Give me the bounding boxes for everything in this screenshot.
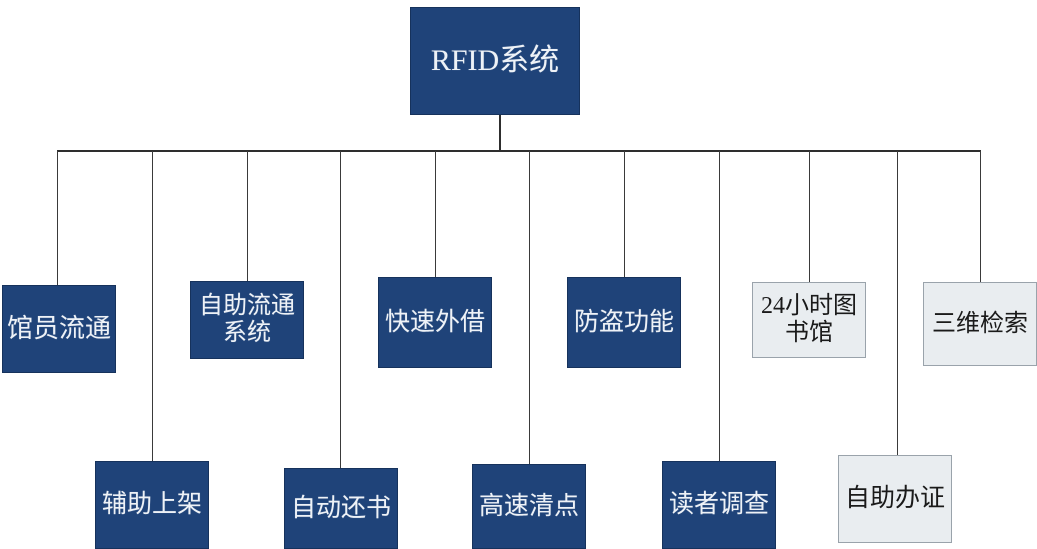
connector-drop-7 (624, 151, 625, 277)
connector-drop-11 (980, 151, 981, 282)
node-level2-1-label: 自助流通 系统 (197, 293, 297, 347)
node-level2-3-label: 防盗功能 (572, 309, 676, 337)
node-root[interactable]: RFID系统 (410, 7, 580, 115)
node-level2-5-label: 三维检索 (930, 311, 1030, 338)
node-level3-2-label: 高速清点 (477, 493, 581, 521)
node-level3-4-label: 自助办证 (843, 485, 947, 513)
connector-drop-1 (57, 151, 58, 285)
node-level3-1[interactable]: 自动还书 (284, 468, 398, 549)
connector-drop-9 (809, 151, 810, 282)
node-level3-1-label: 自动还书 (289, 495, 393, 523)
node-level2-0-label: 馆员流通 (5, 314, 113, 343)
connector-drop-5 (435, 151, 436, 277)
node-level3-3[interactable]: 读者调查 (662, 461, 776, 549)
connector-root-stem (499, 114, 501, 152)
node-level3-0-label: 辅助上架 (100, 491, 204, 519)
node-level2-2-label: 快速外借 (383, 309, 487, 337)
node-level3-0[interactable]: 辅助上架 (95, 461, 209, 549)
connector-drop-2 (152, 151, 153, 461)
node-level2-0[interactable]: 馆员流通 (2, 285, 116, 373)
node-level2-2[interactable]: 快速外借 (378, 277, 492, 368)
connector-drop-10 (897, 151, 898, 455)
node-level2-3[interactable]: 防盗功能 (567, 277, 681, 368)
node-level3-4[interactable]: 自助办证 (838, 455, 952, 543)
connector-drop-4 (340, 151, 341, 468)
diagram-canvas: RFID系统 馆员流通 自助流通 系统 快速外借 防盗功能 24小时图 书馆 三… (0, 0, 1037, 549)
node-level2-5[interactable]: 三维检索 (923, 282, 1037, 366)
node-level3-3-label: 读者调查 (667, 491, 771, 519)
node-level3-2[interactable]: 高速清点 (472, 464, 586, 549)
connector-trunk (57, 150, 981, 152)
node-level2-1[interactable]: 自助流通 系统 (190, 281, 304, 359)
connector-drop-6 (529, 151, 530, 464)
node-level2-4-label: 24小时图 书馆 (759, 293, 859, 347)
connector-drop-8 (719, 151, 720, 461)
node-root-label: RFID系统 (429, 44, 561, 78)
node-level2-4[interactable]: 24小时图 书馆 (752, 282, 866, 358)
connector-drop-3 (247, 151, 248, 285)
